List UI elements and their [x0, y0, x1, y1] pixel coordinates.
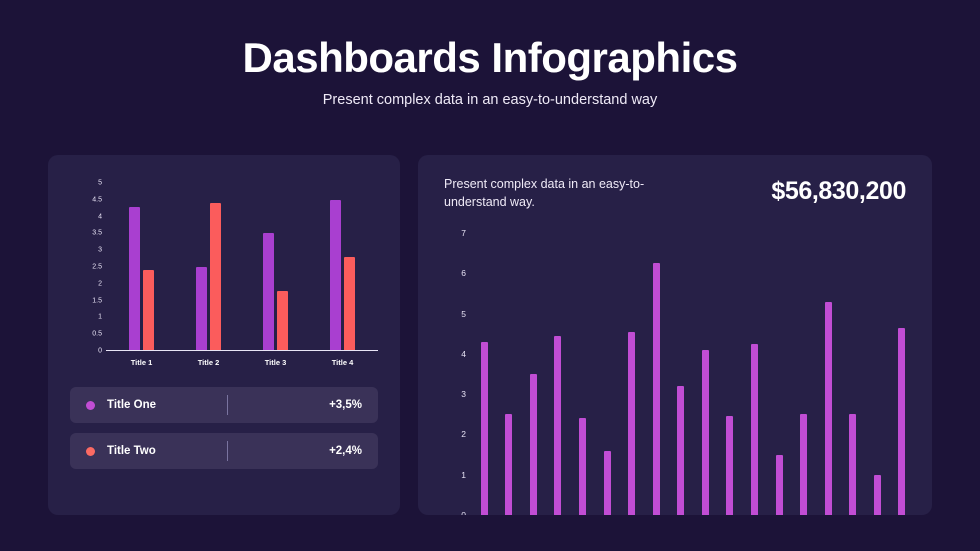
left-chart-y-tick: 2.5	[92, 264, 102, 271]
bar[interactable]	[554, 336, 561, 515]
bar[interactable]	[677, 386, 684, 515]
left-chart-y-tick: 4.5	[92, 196, 102, 203]
left-chart-x-tick: Title 3	[242, 355, 309, 371]
left-chart-y-tick: 0.5	[92, 331, 102, 338]
right-chart-y-tick: 0	[461, 510, 466, 515]
right-panel-header: Present complex data in an easy-to-under…	[444, 175, 906, 211]
right-chart-y-tick: 2	[461, 429, 466, 439]
bar[interactable]	[481, 342, 488, 515]
bar[interactable]	[263, 233, 274, 351]
left-chart-y-axis: 54.543.532.521.510.50	[70, 183, 104, 351]
left-chart-x-tick: Title 4	[309, 355, 376, 371]
right-chart-y-tick: 6	[461, 268, 466, 278]
bar-slot	[742, 233, 767, 515]
grouped-bar-chart: 54.543.532.521.510.50 Title 1Title 2Titl…	[70, 175, 382, 375]
bar-slot	[570, 233, 595, 515]
left-chart-baseline	[106, 350, 378, 351]
right-panel-description: Present complex data in an easy-to-under…	[444, 175, 664, 211]
bar[interactable]	[653, 263, 660, 515]
bar[interactable]	[825, 302, 832, 516]
bar-group	[108, 183, 175, 351]
bar[interactable]	[702, 350, 709, 515]
right-chart-y-tick: 3	[461, 389, 466, 399]
bar-slot	[669, 233, 694, 515]
right-panel: Present complex data in an easy-to-under…	[418, 155, 932, 515]
right-chart-y-tick: 1	[461, 470, 466, 480]
bar-slot	[497, 233, 522, 515]
header: Dashboards Infographics Present complex …	[0, 0, 980, 108]
bar[interactable]	[874, 475, 881, 515]
left-chart-y-tick: 5	[98, 180, 102, 187]
bar-slot	[791, 233, 816, 515]
slide: Dashboards Infographics Present complex …	[0, 0, 980, 551]
legend-value: +2,4%	[329, 445, 362, 457]
right-panel-amount: $56,830,200	[771, 175, 906, 206]
legend-label: Title One	[107, 399, 227, 411]
bar-slot	[644, 233, 669, 515]
bar-slot	[816, 233, 841, 515]
bar-slot	[619, 233, 644, 515]
right-chart-plot-area	[472, 233, 914, 515]
bar[interactable]	[277, 291, 288, 351]
bar[interactable]	[129, 207, 140, 351]
bar-slot	[865, 233, 890, 515]
bar[interactable]	[210, 203, 221, 351]
panels-container: 54.543.532.521.510.50 Title 1Title 2Titl…	[48, 155, 932, 515]
bar[interactable]	[505, 414, 512, 515]
bar-slot	[595, 233, 620, 515]
bar-slot	[693, 233, 718, 515]
bar-group	[242, 183, 309, 351]
bar-slot	[472, 233, 497, 515]
bar-group	[309, 183, 376, 351]
bar[interactable]	[579, 418, 586, 515]
left-panel: 54.543.532.521.510.50 Title 1Title 2Titl…	[48, 155, 400, 515]
left-chart-y-tick: 0	[98, 348, 102, 355]
page-subtitle: Present complex data in an easy-to-under…	[0, 92, 980, 108]
bar-slot	[840, 233, 865, 515]
bar-slot	[521, 233, 546, 515]
bar-slot	[767, 233, 792, 515]
column-chart: 76543210	[444, 233, 914, 515]
left-chart-y-tick: 1.5	[92, 297, 102, 304]
right-chart-y-tick: 7	[461, 228, 466, 238]
legend-value: +3,5%	[329, 399, 362, 411]
left-chart-y-tick: 1	[98, 314, 102, 321]
bar[interactable]	[330, 200, 341, 351]
page-title: Dashboards Infographics	[0, 36, 980, 80]
left-chart-x-tick: Title 1	[108, 355, 175, 371]
left-chart-x-tick: Title 2	[175, 355, 242, 371]
bar[interactable]	[726, 416, 733, 515]
bar-slot	[890, 233, 915, 515]
bar[interactable]	[143, 270, 154, 351]
bar[interactable]	[196, 267, 207, 351]
left-chart-y-tick: 3	[98, 247, 102, 254]
left-chart-plot-area	[108, 183, 376, 351]
bar[interactable]	[800, 414, 807, 515]
bar[interactable]	[776, 455, 783, 515]
legend-list: Title One+3,5%Title Two+2,4%	[70, 387, 378, 469]
bar[interactable]	[344, 257, 355, 351]
legend-divider	[227, 441, 228, 461]
bar[interactable]	[898, 328, 905, 515]
legend-row[interactable]: Title Two+2,4%	[70, 433, 378, 469]
bar-group	[175, 183, 242, 351]
legend-row[interactable]: Title One+3,5%	[70, 387, 378, 423]
left-chart-y-tick: 3.5	[92, 230, 102, 237]
bar-slot	[546, 233, 571, 515]
bar[interactable]	[604, 451, 611, 515]
bar[interactable]	[530, 374, 537, 515]
bar[interactable]	[751, 344, 758, 515]
right-chart-y-tick: 5	[461, 309, 466, 319]
right-chart-y-axis: 76543210	[444, 233, 466, 515]
left-chart-y-tick: 2	[98, 280, 102, 287]
series-two-dot-icon	[86, 447, 95, 456]
bar[interactable]	[628, 332, 635, 515]
left-chart-y-tick: 4	[98, 213, 102, 220]
legend-label: Title Two	[107, 445, 227, 457]
right-chart-y-tick: 4	[461, 349, 466, 359]
bar[interactable]	[849, 414, 856, 515]
bar-slot	[718, 233, 743, 515]
left-chart-x-axis: Title 1Title 2Title 3Title 4	[108, 355, 376, 371]
series-one-dot-icon	[86, 401, 95, 410]
legend-divider	[227, 395, 228, 415]
